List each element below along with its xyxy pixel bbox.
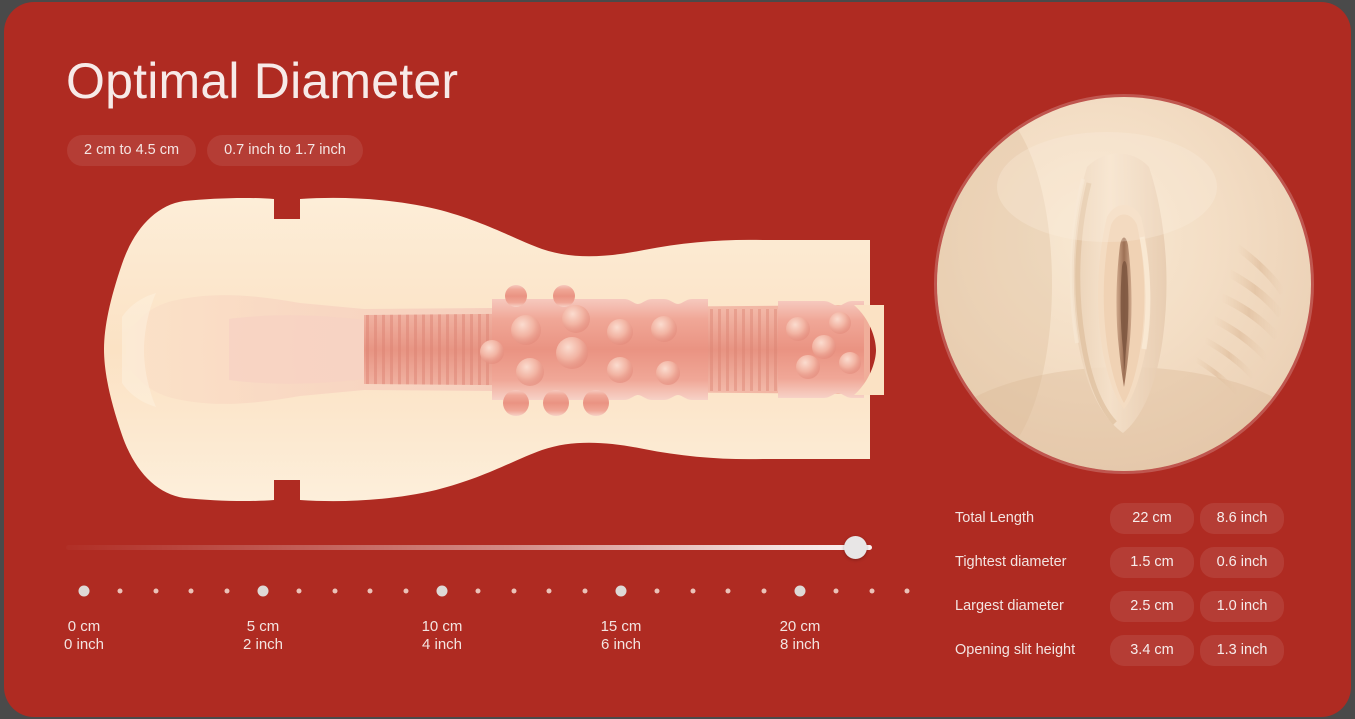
ruler-label: 15 cm6 inch bbox=[601, 618, 642, 654]
ruler-tick-minor bbox=[869, 589, 874, 594]
spec-value-metric: 2.5 cm bbox=[1110, 591, 1194, 622]
ruler-tick-minor bbox=[511, 589, 516, 594]
ruler-label: 10 cm4 inch bbox=[422, 618, 463, 654]
ruler-label-cm: 10 cm bbox=[422, 618, 463, 635]
ruler-label-inch: 2 inch bbox=[243, 636, 283, 654]
ruler-label-inch: 6 inch bbox=[601, 636, 642, 654]
page-title: Optimal Diameter bbox=[66, 56, 458, 106]
ruler-ticks bbox=[66, 580, 896, 602]
spec-value-metric: 1.5 cm bbox=[1110, 547, 1194, 578]
ruler-label-inch: 4 inch bbox=[422, 636, 463, 654]
ruler-label-inch: 0 inch bbox=[64, 636, 104, 654]
spec-row: Opening slit height3.4 cm1.3 inch bbox=[955, 628, 1295, 672]
ruler-tick-minor bbox=[905, 589, 910, 594]
ruler-label-cm: 15 cm bbox=[601, 618, 642, 635]
spec-value-imperial: 0.6 inch bbox=[1200, 547, 1284, 578]
spec-value-imperial: 1.3 inch bbox=[1200, 635, 1284, 666]
ruler-tick-major bbox=[795, 586, 806, 597]
ruler-tick-major bbox=[616, 586, 627, 597]
ruler-tick-major bbox=[437, 586, 448, 597]
spec-value-metric: 22 cm bbox=[1110, 503, 1194, 534]
ruler-tick-minor bbox=[583, 589, 588, 594]
spec-label: Opening slit height bbox=[955, 642, 1110, 658]
ruler-tick-minor bbox=[547, 589, 552, 594]
ruler-tick-minor bbox=[153, 589, 158, 594]
ruler-tick-minor bbox=[762, 589, 767, 594]
spec-row: Tightest diameter1.5 cm0.6 inch bbox=[955, 540, 1295, 584]
ruler-label-cm: 5 cm bbox=[247, 618, 280, 635]
length-slider[interactable] bbox=[66, 536, 886, 560]
ruler-label: 0 cm0 inch bbox=[64, 618, 104, 654]
spec-label: Largest diameter bbox=[955, 598, 1110, 614]
range-pill-row: 2 cm to 4.5 cm 0.7 inch to 1.7 inch bbox=[67, 135, 363, 166]
spec-value-imperial: 1.0 inch bbox=[1200, 591, 1284, 622]
spec-table: Total Length22 cm8.6 inchTightest diamet… bbox=[955, 496, 1295, 672]
ruler-tick-minor bbox=[368, 589, 373, 594]
spec-value-imperial: 8.6 inch bbox=[1200, 503, 1284, 534]
ruler-label: 5 cm2 inch bbox=[243, 618, 283, 654]
inset-photo-wrapper bbox=[924, 88, 1324, 488]
range-pill-metric: 2 cm to 4.5 cm bbox=[67, 135, 196, 166]
ruler-tick-major bbox=[79, 586, 90, 597]
slider-track[interactable] bbox=[66, 545, 872, 550]
ruler-label-cm: 20 cm bbox=[780, 618, 821, 635]
ruler-tick-minor bbox=[117, 589, 122, 594]
product-spec-card: Optimal Diameter 2 cm to 4.5 cm 0.7 inch… bbox=[4, 2, 1351, 717]
ruler-tick-minor bbox=[690, 589, 695, 594]
spec-label: Total Length bbox=[955, 510, 1110, 526]
ruler-tick-major bbox=[258, 586, 269, 597]
ruler-label-inch: 8 inch bbox=[780, 636, 821, 654]
ruler-label: 20 cm8 inch bbox=[780, 618, 821, 654]
spec-row: Total Length22 cm8.6 inch bbox=[955, 496, 1295, 540]
ruler-tick-minor bbox=[296, 589, 301, 594]
ruler-tick-minor bbox=[189, 589, 194, 594]
ruler-tick-minor bbox=[404, 589, 409, 594]
ruler-tick-minor bbox=[225, 589, 230, 594]
ruler-tick-minor bbox=[833, 589, 838, 594]
ruler-tick-minor bbox=[726, 589, 731, 594]
slider-knob[interactable] bbox=[844, 536, 867, 559]
range-pill-imperial: 0.7 inch to 1.7 inch bbox=[207, 135, 363, 166]
spec-label: Tightest diameter bbox=[955, 554, 1110, 570]
spec-row: Largest diameter2.5 cm1.0 inch bbox=[955, 584, 1295, 628]
ruler-tick-minor bbox=[475, 589, 480, 594]
spec-value-metric: 3.4 cm bbox=[1110, 635, 1194, 666]
stroker-opening-closeup bbox=[937, 97, 1311, 471]
ruler-tick-minor bbox=[654, 589, 659, 594]
ruler-labels: 0 cm0 inch5 cm2 inch10 cm4 inch15 cm6 in… bbox=[66, 618, 896, 662]
ruler-tick-minor bbox=[332, 589, 337, 594]
ruler-label-cm: 0 cm bbox=[68, 618, 101, 635]
product-cross-section-illustration bbox=[64, 187, 884, 512]
